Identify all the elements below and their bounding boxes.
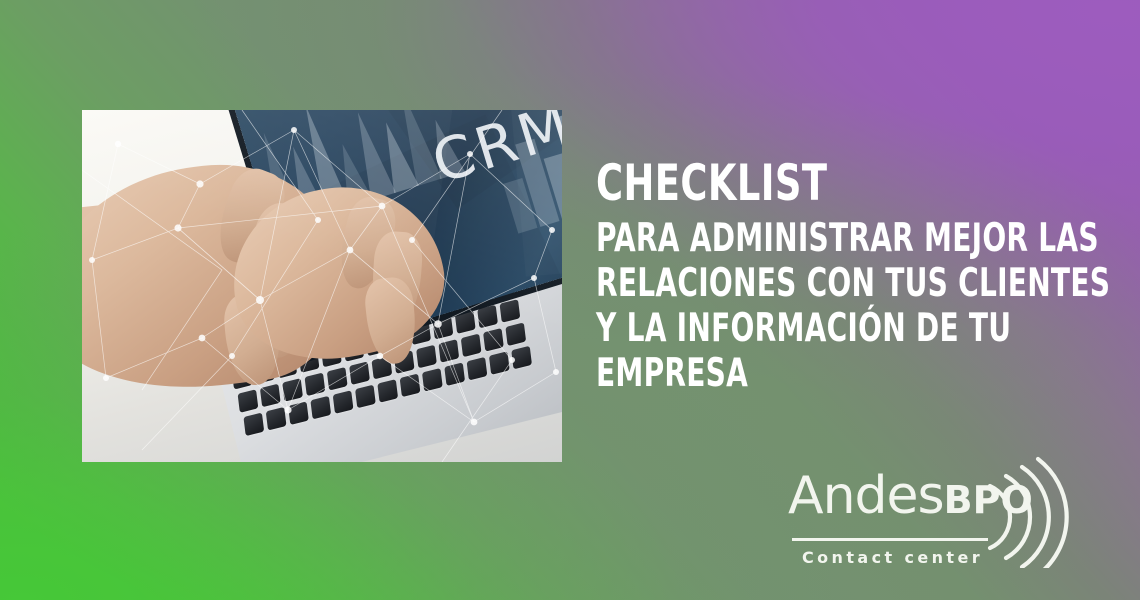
headline-block: CHECKLIST PARA ADMINISTRAR MEJOR LASRELA… [596,158,1066,396]
laptop-crm-photo: CRM [82,110,562,462]
subtitle-line-0: PARA ADMINISTRAR MEJOR LAS [596,216,972,261]
page-title: CHECKLIST [596,158,981,208]
logo-brand-primary: Andes [788,466,944,526]
network-overlay [82,110,562,462]
signal-waves-icon [984,448,1084,568]
subtitle-line-3: EMPRESA [596,351,972,396]
logo-tagline: Contact center [802,548,983,567]
promo-banner: CRM [0,0,1140,600]
logo-divider [792,538,988,541]
subtitle-line-2: Y LA INFORMACIÓN DE TU [596,306,972,351]
brand-logo[interactable]: AndesBPO Contact center [788,470,1088,580]
page-subtitle: PARA ADMINISTRAR MEJOR LASRELACIONES CON… [596,216,972,396]
subtitle-line-1: RELACIONES CON TUS CLIENTES [596,261,972,306]
